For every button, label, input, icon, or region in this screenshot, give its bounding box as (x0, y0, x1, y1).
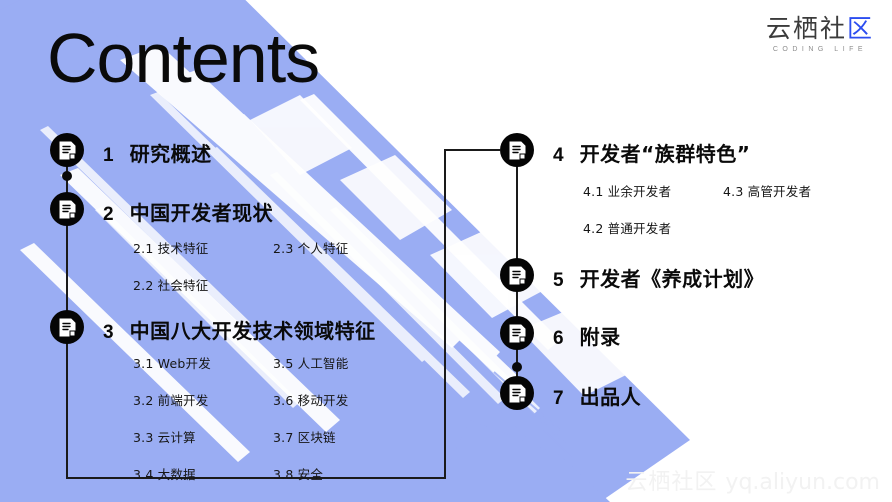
toc-entry-7-heading[interactable]: 7 出品人 (553, 381, 641, 410)
toc-subitem[interactable]: 4.1 业余开发者 (583, 181, 723, 200)
watermark: 云栖社区 yq.aliyun.com (625, 464, 880, 496)
toc-subitem[interactable]: 2.3 个人特征 (273, 238, 348, 257)
toc-subitem[interactable]: 3.5 人工智能 (273, 353, 348, 372)
toc-entry-6-heading[interactable]: 6 附录 (553, 321, 621, 350)
logo-wordmark: 云栖社 区 (766, 16, 874, 41)
page-title: Contents (47, 23, 319, 93)
toc-subitem[interactable]: 4.2 普通开发者 (583, 218, 723, 237)
toc-entry-4-number: 4 (553, 145, 564, 167)
toc-entry-1-number: 1 (103, 145, 114, 167)
toc-subitem-spacer (273, 275, 348, 294)
document-icon (50, 133, 84, 167)
watermark-brand: 云栖社区 (625, 470, 717, 495)
toc-subitem[interactable]: 3.7 区块链 (273, 427, 348, 446)
toc-entry-6-number: 6 (553, 328, 564, 350)
logo-tagline: CODING LIFE (766, 46, 874, 53)
toc-entry-4-label: 开发者“族群特色” (580, 138, 751, 167)
toc-subitem[interactable]: 2.1 技术特征 (133, 238, 273, 257)
toc-subitem[interactable]: 3.6 移动开发 (273, 390, 348, 409)
toc-subitem[interactable]: 3.4 大数据 (133, 464, 273, 483)
document-icon (500, 258, 534, 292)
toc-subitem[interactable]: 3.3 云计算 (133, 427, 273, 446)
toc-subitem[interactable]: 3.2 前端开发 (133, 390, 273, 409)
toc-entry-2-number: 2 (103, 204, 114, 226)
toc-entry-3-label: 中国八大开发技术领域特征 (130, 315, 376, 344)
document-icon (500, 376, 534, 410)
toc-entry-3-subitems: 3.1 Web开发 3.5 人工智能 3.2 前端开发 3.6 移动开发 3.3… (133, 353, 348, 483)
site-logo: 云栖社 区 CODING LIFE (766, 16, 874, 53)
logo-text-cn: 云栖社 (766, 16, 847, 41)
toc-subitem-spacer (723, 218, 811, 237)
document-icon (50, 192, 84, 226)
toc-entry-4-subitems: 4.1 业余开发者 4.3 高管开发者 4.2 普通开发者 (583, 181, 811, 237)
logo-text-accent: 区 (847, 16, 874, 41)
toc-entry-7-number: 7 (553, 388, 564, 410)
toc-subitem[interactable]: 3.1 Web开发 (133, 353, 273, 372)
toc-entry-3-number: 3 (103, 322, 114, 344)
toc-entry-1-heading[interactable]: 1 研究概述 (103, 138, 212, 167)
toc-entry-6-label: 附录 (580, 321, 621, 350)
toc-subitem[interactable]: 2.2 社会特征 (133, 275, 273, 294)
toc-subitem[interactable]: 4.3 高管开发者 (723, 181, 811, 200)
toc-entry-2-subitems: 2.1 技术特征 2.3 个人特征 2.2 社会特征 (133, 238, 348, 294)
toc-entry-2-heading[interactable]: 2 中国开发者现状 (103, 197, 273, 226)
toc-entry-3-heading[interactable]: 3 中国八大开发技术领域特征 (103, 315, 376, 344)
toc-entry-5-label: 开发者《养成计划》 (580, 263, 765, 292)
toc-entry-2-label: 中国开发者现状 (130, 197, 274, 226)
toc-entry-1-label: 研究概述 (130, 138, 212, 167)
document-icon (500, 133, 534, 167)
toc-subitem[interactable]: 3.8 安全 (273, 464, 348, 483)
toc-entry-4-heading[interactable]: 4 开发者“族群特色” (553, 138, 750, 167)
toc-entry-5-heading[interactable]: 5 开发者《养成计划》 (553, 263, 764, 292)
watermark-url: yq.aliyun.com (725, 470, 880, 495)
toc-entry-5-number: 5 (553, 270, 564, 292)
document-icon (500, 316, 534, 350)
slide-canvas: 云栖社 区 CODING LIFE Contents (0, 0, 892, 502)
document-icon (50, 310, 84, 344)
toc-entry-7-label: 出品人 (580, 381, 642, 410)
